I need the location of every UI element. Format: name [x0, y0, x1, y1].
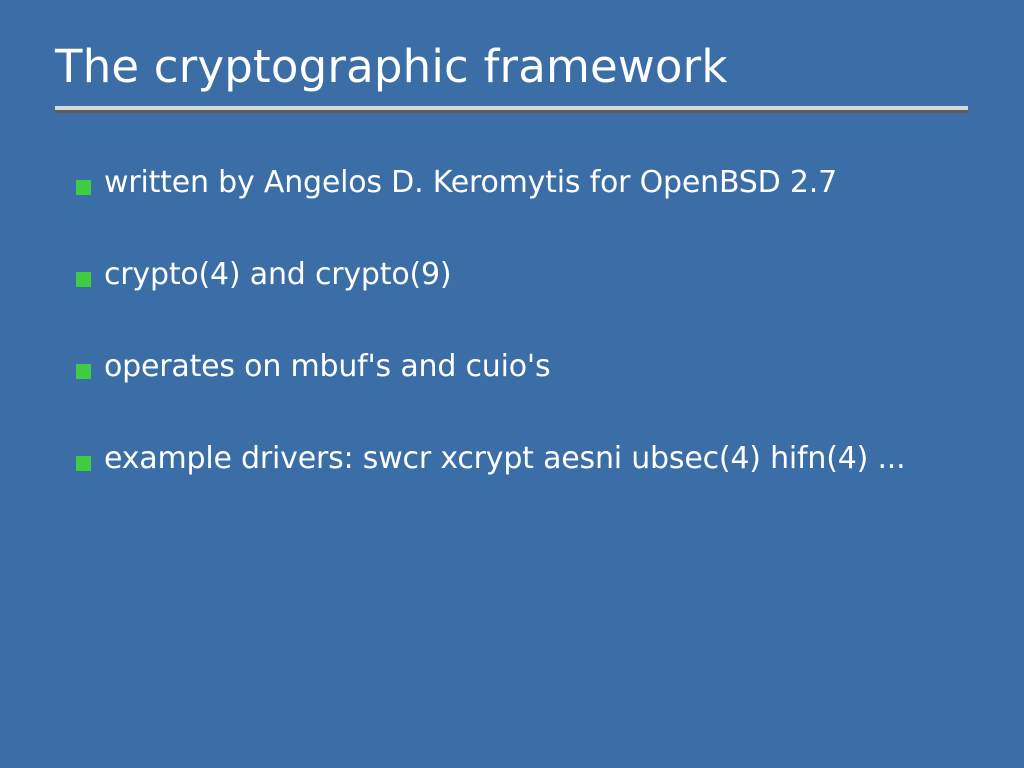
title-divider — [55, 106, 968, 113]
presentation-slide: The cryptographic framework written by A… — [0, 0, 1024, 768]
list-item: example drivers: swcr xcrypt aesni ubsec… — [76, 439, 996, 531]
page-title: The cryptographic framework — [55, 38, 970, 96]
list-item-label: operates on mbuf's and cuio's — [104, 347, 996, 387]
bullet-list: written by Angelos D. Keromytis for Open… — [76, 163, 996, 531]
list-item-label: written by Angelos D. Keromytis for Open… — [104, 163, 996, 203]
list-item: written by Angelos D. Keromytis for Open… — [76, 163, 996, 255]
list-item: operates on mbuf's and cuio's — [76, 347, 996, 439]
list-item-label: crypto(4) and crypto(9) — [104, 255, 996, 295]
square-bullet-icon — [76, 180, 91, 195]
square-bullet-icon — [76, 272, 91, 287]
title-divider-shadow — [55, 110, 968, 113]
list-item: crypto(4) and crypto(9) — [76, 255, 996, 347]
slide-title-block: The cryptographic framework — [55, 38, 970, 96]
square-bullet-icon — [76, 456, 91, 471]
list-item-label: example drivers: swcr xcrypt aesni ubsec… — [104, 439, 996, 479]
square-bullet-icon — [76, 364, 91, 379]
